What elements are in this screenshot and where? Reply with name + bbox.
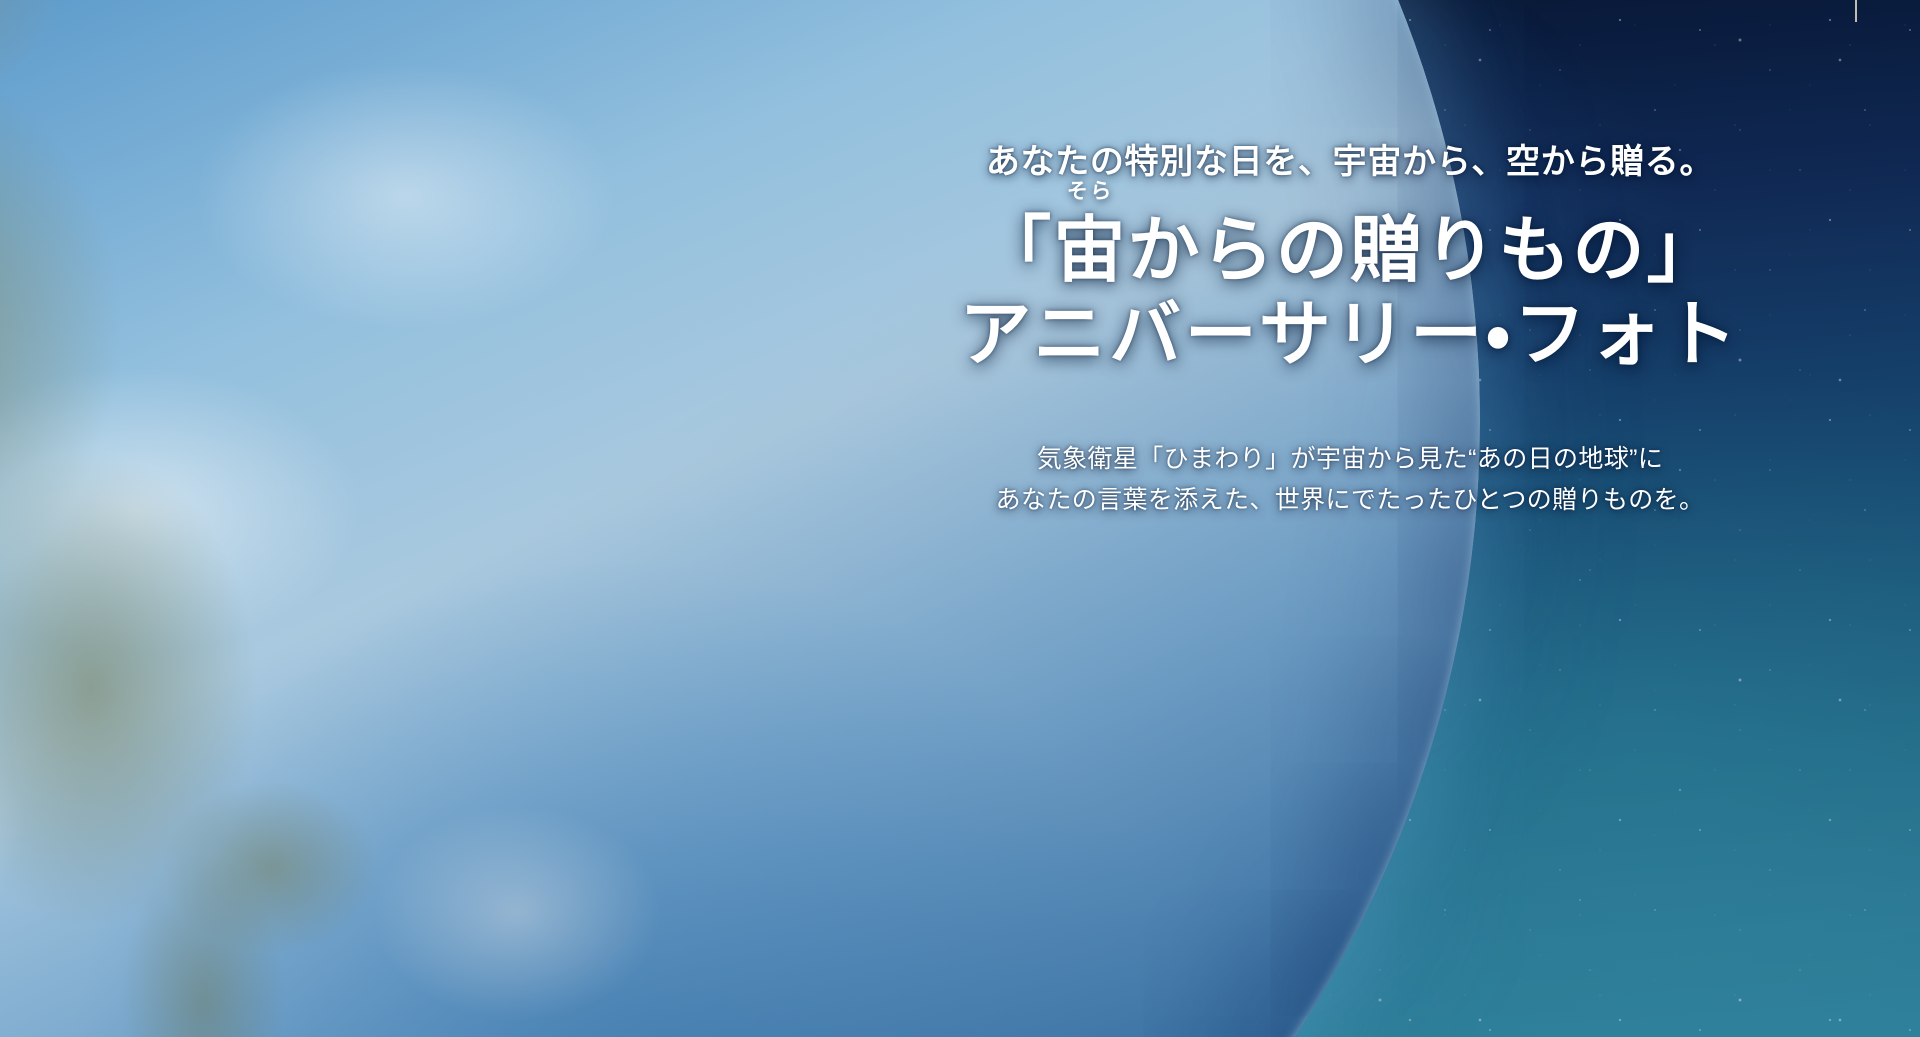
title-open-bracket: 「 — [979, 211, 1053, 291]
hero-text-block: あなたの特別な日を、宇宙から、空から贈る。 「そら宙からの贈りもの」 アニバーサ… — [880, 140, 1820, 520]
hero-description-line-1: 気象衛星「ひまわり」が宇宙から見た“あの日の地球”に — [880, 439, 1820, 480]
hero-title-line-1: 「そら宙からの贈りもの」 — [880, 210, 1820, 294]
ruby-group-sora: そら宙 — [1053, 210, 1127, 294]
hero-banner: あなたの特別な日を、宇宙から、空から贈る。 「そら宙からの贈りもの」 アニバーサ… — [0, 0, 1920, 1037]
ruby-annotation-sora: そら — [1067, 180, 1114, 204]
ruby-base-sora: 宙 — [1053, 211, 1127, 291]
top-edge-marker — [1855, 0, 1857, 22]
hero-tagline: あなたの特別な日を、宇宙から、空から贈る。 — [880, 140, 1820, 184]
hero-title-line-2: アニバーサリー・フォト — [880, 294, 1820, 378]
title-line-1-suffix: からの贈りもの」 — [1128, 211, 1721, 291]
hero-description: 気象衛星「ひまわり」が宇宙から見た“あの日の地球”に あなたの言葉を添えた、世界… — [880, 439, 1820, 520]
hero-title: 「そら宙からの贈りもの」 アニバーサリー・フォト — [880, 210, 1820, 377]
hero-description-line-2: あなたの言葉を添えた、世界にでたったひとつの贈りものを。 — [880, 480, 1820, 521]
